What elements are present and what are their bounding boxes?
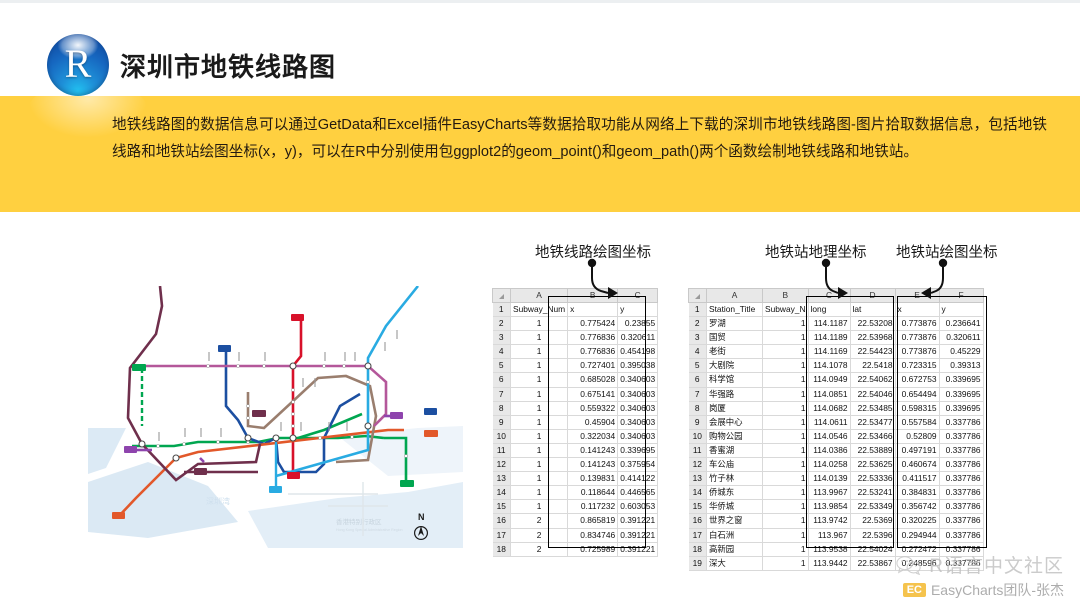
cell-y[interactable]: 0.39313 — [939, 359, 983, 373]
cell-subway-num[interactable]: 1 — [511, 415, 568, 429]
cell-lat[interactable]: 22.54046 — [850, 387, 895, 401]
cell-long[interactable]: 114.1187 — [808, 317, 850, 331]
cell-subway-num[interactable]: 1 — [763, 401, 809, 415]
cell-y[interactable]: 0.320611 — [939, 331, 983, 345]
table-row: 510.7274010.395038 — [493, 359, 658, 373]
cell-x[interactable]: 0.384831 — [895, 486, 939, 500]
cell-x[interactable]: 0.654494 — [895, 387, 939, 401]
row-number[interactable]: 5 — [493, 359, 511, 373]
wechat-icon — [896, 555, 922, 575]
row-number[interactable]: 3 — [689, 331, 707, 345]
cell-station-title[interactable]: 华强路 — [707, 387, 763, 401]
row-number[interactable]: 16 — [493, 514, 511, 528]
cell-subway-num[interactable]: 1 — [511, 500, 568, 514]
cell-x[interactable]: 0.685028 — [568, 373, 618, 387]
cell-y[interactable]: 0.339695 — [939, 373, 983, 387]
cell-y[interactable]: 0.340603 — [618, 373, 658, 387]
cell-subway-num[interactable]: 1 — [763, 443, 809, 457]
cell-long[interactable]: 114.1169 — [808, 345, 850, 359]
cell-y[interactable]: 0.339695 — [618, 443, 658, 457]
cell-lat[interactable]: 22.54062 — [850, 373, 895, 387]
row-number[interactable]: 1 — [493, 303, 511, 317]
svg-text:N: N — [418, 512, 425, 522]
cell-header-x[interactable]: x — [568, 303, 618, 317]
row-number[interactable]: 5 — [689, 359, 707, 373]
watermark: R语言中文社区 EC EasyCharts团队-张杰 — [896, 551, 1064, 600]
cell-long[interactable]: 114.0386 — [808, 443, 850, 457]
sheet-corner[interactable] — [493, 289, 511, 303]
col-header-c[interactable]: C — [808, 289, 850, 303]
table-row: 13竹子林1114.013922.533360.4115170.337786 — [689, 472, 984, 486]
cell-y[interactable]: 0.337786 — [939, 500, 983, 514]
cell-subway-num[interactable]: 1 — [763, 472, 809, 486]
col-header-a[interactable]: A — [707, 289, 763, 303]
table-row: 310.7768360.320611 — [493, 331, 658, 345]
watermark-community: R语言中文社区 — [929, 551, 1064, 578]
metro-map-graphic: 香港特别行政区 Hong Kong Special Administrative… — [88, 286, 463, 554]
cell-subway-num[interactable]: 1 — [511, 443, 568, 457]
row-number[interactable]: 11 — [493, 443, 511, 457]
cell-y[interactable]: 0.337786 — [939, 486, 983, 500]
row-number[interactable]: 18 — [689, 542, 707, 556]
cell-header-x[interactable]: x — [895, 303, 939, 317]
cell-y[interactable]: 0.391221 — [618, 514, 658, 528]
cell-subway-num[interactable]: 1 — [763, 458, 809, 472]
cell-y[interactable]: 0.339695 — [939, 401, 983, 415]
cell-x[interactable]: 0.773876 — [895, 345, 939, 359]
cell-x[interactable]: 0.672753 — [895, 373, 939, 387]
col-header-e[interactable]: E — [895, 289, 939, 303]
row-number[interactable]: 15 — [689, 500, 707, 514]
svg-text:Hong Kong Special Administrati: Hong Kong Special Administrative Region — [336, 528, 403, 532]
table-row: 17白石洲1113.96722.53960.2949440.337786 — [689, 528, 984, 542]
cell-lat[interactable]: 22.53208 — [850, 317, 895, 331]
row-number[interactable]: 7 — [493, 387, 511, 401]
table-row: 1510.1172320.603053 — [493, 500, 658, 514]
row-number[interactable]: 12 — [689, 458, 707, 472]
spreadsheet-station-data[interactable]: A B C D E F 1Station_TitleSubway_Nlongla… — [688, 288, 984, 571]
table-row: 410.7768360.454198 — [493, 345, 658, 359]
col-header-d[interactable]: D — [850, 289, 895, 303]
table-row: 910.459040.340603 — [493, 415, 658, 429]
col-header-f[interactable]: F — [939, 289, 983, 303]
label-station-geo: 地铁站地理坐标 — [765, 241, 867, 262]
cell-y[interactable]: 0.414122 — [618, 472, 658, 486]
cell-x[interactable]: 0.141243 — [568, 458, 618, 472]
row-number[interactable]: 14 — [493, 486, 511, 500]
cell-station-title[interactable]: 会展中心 — [707, 415, 763, 429]
cell-y[interactable]: 0.340603 — [618, 429, 658, 443]
cell-lat[interactable]: 22.53867 — [850, 556, 895, 570]
cell-subway-num[interactable]: 1 — [511, 387, 568, 401]
cell-long[interactable]: 114.0258 — [808, 458, 850, 472]
cell-subway-num[interactable]: 1 — [763, 317, 809, 331]
cell-x[interactable]: 0.725989 — [568, 542, 618, 556]
table-row: 4老街1114.116922.544230.7738760.45229 — [689, 345, 984, 359]
table-row: 210.7754240.23855 — [493, 317, 658, 331]
row-number[interactable]: 16 — [689, 514, 707, 528]
cell-station-title[interactable]: 竹子林 — [707, 472, 763, 486]
station-data-table: A B C D E F 1Station_TitleSubway_Nlongla… — [688, 288, 984, 571]
slide-header: R 深圳市地铁线路图 — [0, 3, 1080, 96]
cell-x[interactable]: 0.294944 — [895, 528, 939, 542]
cell-subway-num[interactable]: 1 — [511, 345, 568, 359]
cell-y[interactable]: 0.337786 — [939, 443, 983, 457]
cell-lat[interactable]: 22.53968 — [850, 331, 895, 345]
cell-long[interactable]: 114.0139 — [808, 472, 850, 486]
sheet-corner[interactable] — [689, 289, 707, 303]
cell-station-title[interactable]: 深大 — [707, 556, 763, 570]
cell-header-y[interactable]: y — [939, 303, 983, 317]
cell-y[interactable]: 0.391221 — [618, 542, 658, 556]
cell-y[interactable]: 0.337786 — [939, 528, 983, 542]
table-row: 1720.8347460.391221 — [493, 528, 658, 542]
row-number[interactable]: 12 — [493, 458, 511, 472]
row-number[interactable]: 4 — [493, 345, 511, 359]
cell-subway-num[interactable]: 1 — [763, 373, 809, 387]
table-row: 15华侨城1113.985422.533490.3567420.337786 — [689, 500, 984, 514]
cell-long[interactable]: 113.9854 — [808, 500, 850, 514]
cell-x[interactable]: 0.775424 — [568, 317, 618, 331]
cell-subway-num[interactable]: 1 — [763, 331, 809, 345]
cell-header-subway-num[interactable]: Subway_Num — [511, 303, 568, 317]
cell-long[interactable]: 113.9538 — [808, 542, 850, 556]
cell-header-lat[interactable]: lat — [850, 303, 895, 317]
cell-long[interactable]: 114.0611 — [808, 415, 850, 429]
cell-x[interactable]: 0.52809 — [895, 429, 939, 443]
description-banner: 地铁线路图的数据信息可以通过GetData和Excel插件EasyCharts等… — [0, 96, 1080, 212]
cell-y[interactable]: 0.339695 — [939, 387, 983, 401]
cell-lat[interactable]: 22.53485 — [850, 401, 895, 415]
cell-y[interactable]: 0.340603 — [618, 387, 658, 401]
cell-station-title[interactable]: 高新园 — [707, 542, 763, 556]
cell-subway-num[interactable]: 1 — [511, 373, 568, 387]
row-number[interactable]: 6 — [493, 373, 511, 387]
cell-x[interactable]: 0.598315 — [895, 401, 939, 415]
table-row: 710.6751410.340603 — [493, 387, 658, 401]
row-number[interactable]: 10 — [689, 429, 707, 443]
row-number[interactable]: 13 — [493, 472, 511, 486]
table-row: 12车公庙1114.025822.536250.4606740.337786 — [689, 458, 984, 472]
cell-subway-num[interactable]: 1 — [763, 556, 809, 570]
label-line-coords: 地铁线路绘图坐标 — [535, 241, 651, 262]
cell-long[interactable]: 113.9967 — [808, 486, 850, 500]
table-row: 1010.3220340.340603 — [493, 429, 658, 443]
row-number[interactable]: 7 — [689, 387, 707, 401]
cell-subway-num[interactable]: 1 — [763, 500, 809, 514]
cell-y[interactable]: 0.45229 — [939, 345, 983, 359]
cell-y[interactable]: 0.320611 — [618, 331, 658, 345]
label-station-plot: 地铁站绘图坐标 — [896, 241, 998, 262]
cell-x[interactable]: 0.141243 — [568, 443, 618, 457]
cell-subway-num[interactable]: 2 — [511, 542, 568, 556]
cell-long[interactable]: 114.0682 — [808, 401, 850, 415]
metro-map: 香港特别行政区 Hong Kong Special Administrative… — [88, 286, 463, 554]
cell-header-y[interactable]: y — [618, 303, 658, 317]
cell-subway-num[interactable]: 2 — [511, 514, 568, 528]
cell-station-title[interactable]: 科学馆 — [707, 373, 763, 387]
table-row: 2罗湖1114.118722.532080.7738760.236641 — [689, 317, 984, 331]
row-number[interactable]: 15 — [493, 500, 511, 514]
cell-y[interactable]: 0.603053 — [618, 500, 658, 514]
cell-lat[interactable]: 22.54024 — [850, 542, 895, 556]
cell-station-title[interactable]: 华侨城 — [707, 500, 763, 514]
cell-long[interactable]: 114.1078 — [808, 359, 850, 373]
row-number[interactable]: 8 — [493, 401, 511, 415]
table-row: 9会展中心1114.061122.534770.5575840.337786 — [689, 415, 984, 429]
row-number[interactable]: 18 — [493, 542, 511, 556]
page-title: 深圳市地铁线路图 — [120, 47, 336, 84]
cell-lat[interactable]: 22.53466 — [850, 429, 895, 443]
table-row: 5大剧院1114.107822.54180.7233150.39313 — [689, 359, 984, 373]
cell-x[interactable]: 0.45904 — [568, 415, 618, 429]
cell-x[interactable]: 0.723315 — [895, 359, 939, 373]
cell-header-subway-num[interactable]: Subway_N — [763, 303, 809, 317]
cell-y[interactable]: 0.340603 — [618, 415, 658, 429]
cell-y[interactable]: 0.395038 — [618, 359, 658, 373]
cell-x[interactable]: 0.675141 — [568, 387, 618, 401]
cell-x[interactable]: 0.773876 — [895, 317, 939, 331]
cell-y[interactable]: 0.375954 — [618, 458, 658, 472]
cell-long[interactable]: 113.9742 — [808, 514, 850, 528]
description-text: 地铁线路图的数据信息可以通过GetData和Excel插件EasyCharts等… — [112, 112, 1047, 165]
table-row: 6科学馆1114.094922.540620.6727530.339695 — [689, 373, 984, 387]
cell-long[interactable]: 113.967 — [808, 528, 850, 542]
row-number[interactable]: 4 — [689, 345, 707, 359]
cell-subway-num[interactable]: 1 — [763, 415, 809, 429]
cell-x[interactable]: 0.557584 — [895, 415, 939, 429]
svg-text:香港特别行政区: 香港特别行政区 — [336, 517, 382, 526]
row-number[interactable]: 17 — [493, 528, 511, 542]
cell-y[interactable]: 0.454198 — [618, 345, 658, 359]
table-row: 8岗厦1114.068222.534850.5983150.339695 — [689, 401, 984, 415]
cell-subway-num[interactable]: 1 — [511, 331, 568, 345]
cell-station-title[interactable]: 大剧院 — [707, 359, 763, 373]
cell-station-title[interactable]: 国贸 — [707, 331, 763, 345]
table-row: 1210.1412430.375954 — [493, 458, 658, 472]
cell-y[interactable]: 0.337786 — [939, 415, 983, 429]
cell-subway-num[interactable]: 1 — [763, 486, 809, 500]
r-logo-letter: R — [47, 44, 109, 84]
table-row: 1620.8658190.391221 — [493, 514, 658, 528]
row-number[interactable]: 19 — [689, 556, 707, 570]
cell-x[interactable]: 0.139831 — [568, 472, 618, 486]
cell-header-long[interactable]: long — [808, 303, 850, 317]
cell-subway-num[interactable]: 1 — [511, 429, 568, 443]
row-number[interactable]: 14 — [689, 486, 707, 500]
table-row: 10购物公园1114.054622.534660.528090.337786 — [689, 429, 984, 443]
cell-subway-num[interactable]: 1 — [511, 472, 568, 486]
cell-x[interactable]: 0.727401 — [568, 359, 618, 373]
cell-long[interactable]: 114.0949 — [808, 373, 850, 387]
cell-y[interactable]: 0.337786 — [939, 429, 983, 443]
cell-lat[interactable]: 22.53477 — [850, 415, 895, 429]
cell-lat[interactable]: 22.53336 — [850, 472, 895, 486]
col-header-b[interactable]: B — [763, 289, 809, 303]
table-row: 11香蜜湖1114.038622.538890.4971910.337786 — [689, 443, 984, 457]
cell-long[interactable]: 113.9442 — [808, 556, 850, 570]
cell-x[interactable]: 0.460674 — [895, 458, 939, 472]
cell-x[interactable]: 0.322034 — [568, 429, 618, 443]
cell-subway-num[interactable]: 1 — [763, 429, 809, 443]
cell-y[interactable]: 0.236641 — [939, 317, 983, 331]
table-row: 3国贸1114.118922.539680.7738760.320611 — [689, 331, 984, 345]
cell-subway-num[interactable]: 1 — [763, 359, 809, 373]
cell-subway-num[interactable]: 1 — [763, 542, 809, 556]
cell-station-title[interactable]: 车公庙 — [707, 458, 763, 472]
cell-x[interactable]: 0.776836 — [568, 331, 618, 345]
cell-y[interactable]: 0.337786 — [939, 514, 983, 528]
cell-x[interactable]: 0.559322 — [568, 401, 618, 415]
row-number[interactable]: 8 — [689, 401, 707, 415]
cell-lat[interactable]: 22.54423 — [850, 345, 895, 359]
cell-x[interactable]: 0.773876 — [895, 331, 939, 345]
cell-subway-num[interactable]: 1 — [511, 359, 568, 373]
cell-y[interactable]: 0.446565 — [618, 486, 658, 500]
row-number[interactable]: 2 — [689, 317, 707, 331]
cell-lat[interactable]: 22.5369 — [850, 514, 895, 528]
cell-y[interactable]: 0.337786 — [939, 458, 983, 472]
cell-station-title[interactable]: 白石洲 — [707, 528, 763, 542]
cell-x[interactable]: 0.117232 — [568, 500, 618, 514]
cell-station-title[interactable]: 购物公园 — [707, 429, 763, 443]
cell-subway-num[interactable]: 1 — [763, 345, 809, 359]
col-header-c[interactable]: C — [618, 289, 658, 303]
row-number[interactable]: 2 — [493, 317, 511, 331]
spreadsheet-line-coords[interactable]: A B C 1Subway_Numxy210.7754240.23855310.… — [492, 288, 658, 557]
easycharts-badge: EC — [903, 583, 926, 597]
col-header-b[interactable]: B — [568, 289, 618, 303]
table-row: 810.5593220.340603 — [493, 401, 658, 415]
row-number[interactable]: 3 — [493, 331, 511, 345]
svg-text:深圳湾: 深圳湾 — [206, 496, 230, 506]
cell-x[interactable]: 0.320225 — [895, 514, 939, 528]
cell-long[interactable]: 114.0851 — [808, 387, 850, 401]
cell-station-title[interactable]: 岗厦 — [707, 401, 763, 415]
table-row: 1Station_TitleSubway_Nlonglatxy — [689, 303, 984, 317]
col-header-a[interactable]: A — [511, 289, 568, 303]
cell-y[interactable]: 0.391221 — [618, 528, 658, 542]
cell-lat[interactable]: 22.5418 — [850, 359, 895, 373]
line-coords-table: A B C 1Subway_Numxy210.7754240.23855310.… — [492, 288, 658, 557]
cell-lat[interactable]: 22.5396 — [850, 528, 895, 542]
cell-subway-num[interactable]: 1 — [511, 401, 568, 415]
cell-lat[interactable]: 22.53241 — [850, 486, 895, 500]
cell-x[interactable]: 0.356742 — [895, 500, 939, 514]
table-row: 1Subway_Numxy — [493, 303, 658, 317]
cell-long[interactable]: 114.0546 — [808, 429, 850, 443]
table-header-row: A B C D E F — [689, 289, 984, 303]
watermark-team: EasyCharts团队-张杰 — [931, 580, 1064, 600]
cell-x[interactable]: 0.411517 — [895, 472, 939, 486]
cell-x[interactable]: 0.776836 — [568, 345, 618, 359]
table-row: 14侨城东1113.996722.532410.3848310.337786 — [689, 486, 984, 500]
row-number[interactable]: 6 — [689, 373, 707, 387]
cell-subway-num[interactable]: 1 — [763, 514, 809, 528]
row-number[interactable]: 17 — [689, 528, 707, 542]
cell-subway-num[interactable]: 1 — [511, 458, 568, 472]
cell-subway-num[interactable]: 1 — [511, 317, 568, 331]
cell-x[interactable]: 0.118644 — [568, 486, 618, 500]
cell-subway-num[interactable]: 2 — [511, 528, 568, 542]
cell-y[interactable]: 0.337786 — [939, 472, 983, 486]
cell-station-title[interactable]: 老街 — [707, 345, 763, 359]
row-number[interactable]: 9 — [689, 415, 707, 429]
cell-subway-num[interactable]: 1 — [763, 387, 809, 401]
r-logo-icon: R — [47, 34, 109, 96]
row-number[interactable]: 10 — [493, 429, 511, 443]
table-row: 610.6850280.340603 — [493, 373, 658, 387]
cell-x[interactable]: 0.834746 — [568, 528, 618, 542]
row-number[interactable]: 1 — [689, 303, 707, 317]
cell-lat[interactable]: 22.53889 — [850, 443, 895, 457]
cell-y[interactable]: 0.340603 — [618, 401, 658, 415]
cell-station-title[interactable]: 世界之窗 — [707, 514, 763, 528]
table-row: 16世界之窗1113.974222.53690.3202250.337786 — [689, 514, 984, 528]
row-number[interactable]: 11 — [689, 443, 707, 457]
table-row: 7华强路1114.085122.540460.6544940.339695 — [689, 387, 984, 401]
table-row: 1820.7259890.391221 — [493, 542, 658, 556]
cell-header-station-title[interactable]: Station_Title — [707, 303, 763, 317]
slide-canvas: R 深圳市地铁线路图 地铁线路图的数据信息可以通过GetData和Excel插件… — [0, 0, 1080, 608]
cell-long[interactable]: 114.1189 — [808, 331, 850, 345]
cell-x[interactable]: 0.865819 — [568, 514, 618, 528]
cell-subway-num[interactable]: 1 — [511, 486, 568, 500]
table-row: 1310.1398310.414122 — [493, 472, 658, 486]
row-number[interactable]: 13 — [689, 472, 707, 486]
cell-x[interactable]: 0.497191 — [895, 443, 939, 457]
cell-subway-num[interactable]: 1 — [763, 528, 809, 542]
cell-station-title[interactable]: 香蜜湖 — [707, 443, 763, 457]
cell-y[interactable]: 0.23855 — [618, 317, 658, 331]
cell-lat[interactable]: 22.53625 — [850, 458, 895, 472]
cell-station-title[interactable]: 罗湖 — [707, 317, 763, 331]
cell-station-title[interactable]: 侨城东 — [707, 486, 763, 500]
table-header-row: A B C — [493, 289, 658, 303]
table-row: 1410.1186440.446565 — [493, 486, 658, 500]
row-number[interactable]: 9 — [493, 415, 511, 429]
cell-lat[interactable]: 22.53349 — [850, 500, 895, 514]
table-row: 1110.1412430.339695 — [493, 443, 658, 457]
